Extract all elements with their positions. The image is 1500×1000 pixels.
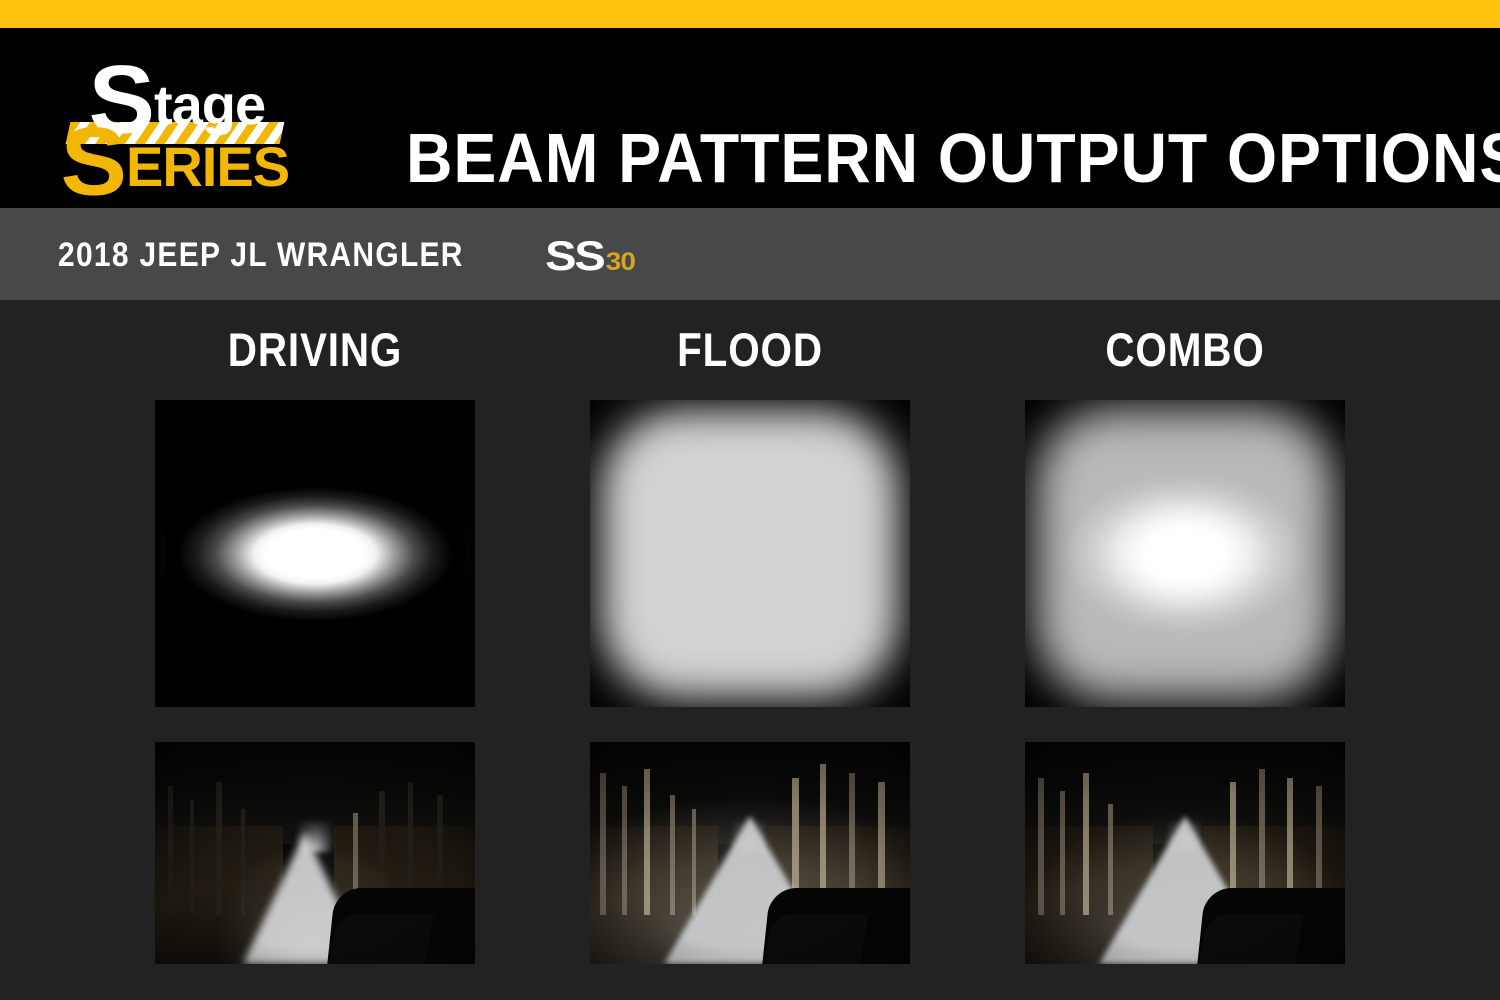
beam-pattern-infographic: S tage S ERIES BEAM PATTERN OUTPUT OPTIO… bbox=[0, 0, 1500, 1000]
beam-photo-flood-image bbox=[590, 742, 910, 964]
beam-photo-driving-image bbox=[155, 742, 475, 964]
beam-pattern-combo bbox=[1025, 400, 1345, 707]
beam-photo-driving bbox=[155, 742, 475, 964]
beam-photo-flood bbox=[590, 742, 910, 964]
header-bar: S tage S ERIES BEAM PATTERN OUTPUT OPTIO… bbox=[0, 28, 1500, 208]
column-title-driving: DRIVING bbox=[177, 322, 452, 377]
beam-photo-combo bbox=[1025, 742, 1345, 964]
accent-bar bbox=[0, 0, 1500, 28]
model-badge: SS 30 bbox=[545, 232, 635, 279]
page-title: BEAM PATTERN OUTPUT OPTIONS bbox=[406, 120, 1387, 206]
logo-initial-s-yellow: S bbox=[60, 107, 124, 218]
logo-line-series: S ERIES bbox=[62, 112, 362, 198]
column-combo: COMBO bbox=[1025, 300, 1345, 377]
comparison-grid: DRIVING bbox=[0, 300, 1500, 1000]
beam-pattern-flood-graphic bbox=[590, 400, 910, 707]
beam-pattern-driving bbox=[155, 400, 475, 707]
vehicle-info-inner: 2018 JEEP JL WRANGLER SS 30 bbox=[58, 230, 635, 280]
column-title-flood: FLOOD bbox=[612, 322, 887, 377]
beam-pattern-driving-graphic bbox=[155, 400, 475, 707]
logo-word-eries: ERIES bbox=[126, 134, 289, 199]
beam-photo-combo-image bbox=[1025, 742, 1345, 964]
vehicle-info-bar: 2018 JEEP JL WRANGLER SS 30 bbox=[0, 208, 1500, 300]
column-driving: DRIVING bbox=[155, 300, 475, 377]
column-flood: FLOOD bbox=[590, 300, 910, 377]
model-number: 30 bbox=[606, 249, 635, 274]
stage-series-logo: S tage S ERIES bbox=[62, 50, 362, 190]
vehicle-name: 2018 JEEP JL WRANGLER bbox=[58, 236, 464, 275]
model-prefix: SS bbox=[545, 234, 604, 275]
column-title-combo: COMBO bbox=[1047, 322, 1322, 377]
beam-pattern-combo-graphic bbox=[1025, 400, 1345, 707]
beam-pattern-flood bbox=[590, 400, 910, 707]
